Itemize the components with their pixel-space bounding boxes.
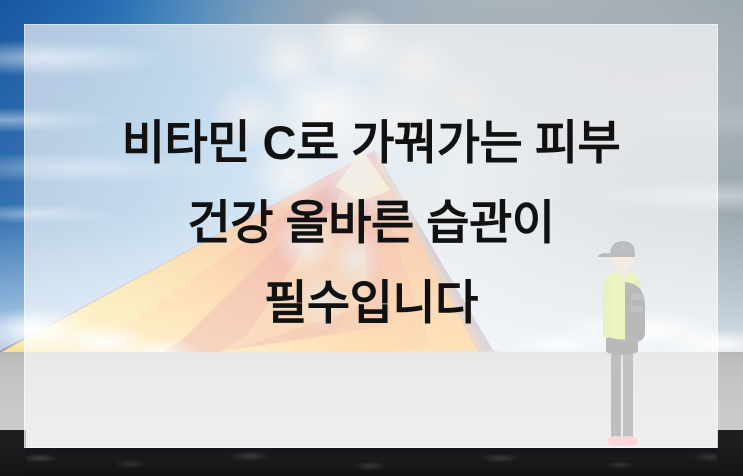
rock-right-strip <box>717 430 743 476</box>
lava-rock-foreground <box>0 448 743 476</box>
white-overlay-card <box>24 24 718 448</box>
rock-left-strip <box>0 430 26 476</box>
thumbnail-canvas: 비타민 C로 가꿔가는 피부 건강 올바른 습관이 필수입니다 <box>0 0 743 476</box>
